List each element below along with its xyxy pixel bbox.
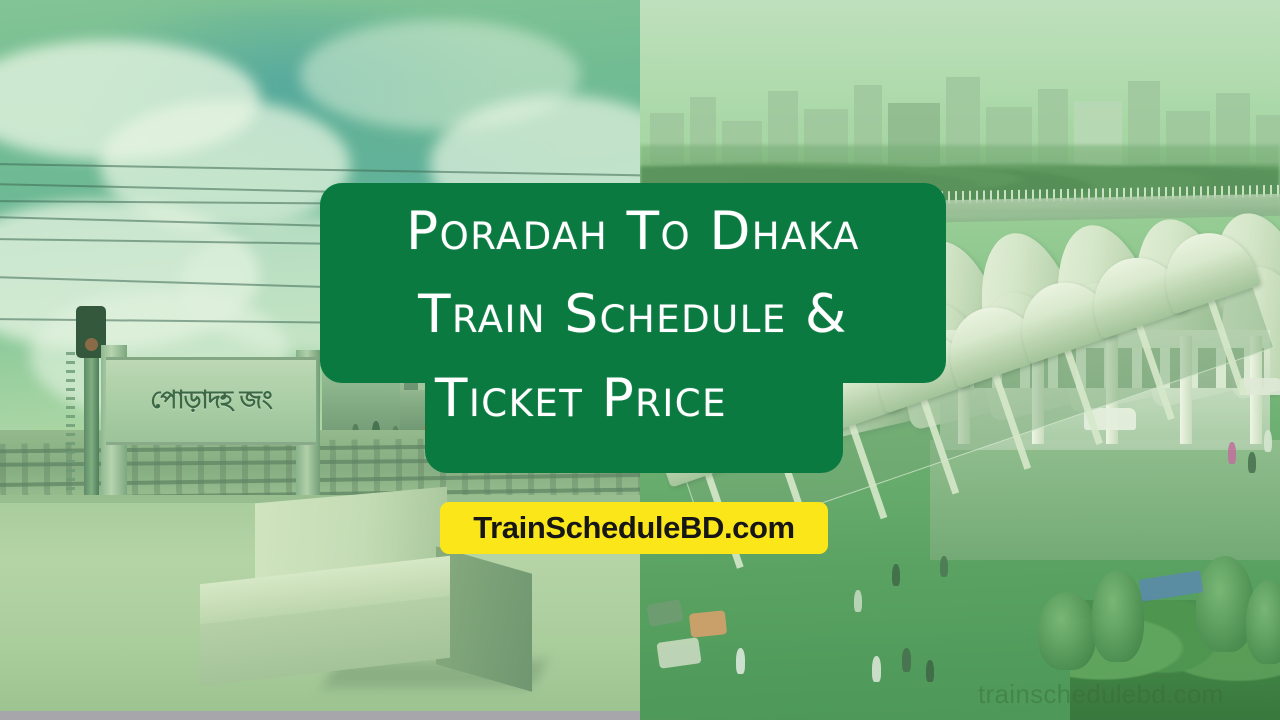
person-silhouette xyxy=(872,656,881,682)
banner-image: পোড়াদহ জং xyxy=(0,0,1280,720)
rickshaw xyxy=(646,599,683,627)
page-title: Poradah To Dhaka Train Schedule & Ticket… xyxy=(320,183,946,475)
site-domain-badge[interactable]: TrainScheduleBD.com xyxy=(440,502,828,554)
person-silhouette xyxy=(1248,452,1256,473)
signal-lamp-icon xyxy=(85,338,98,351)
person-silhouette xyxy=(854,590,862,612)
rickshaw xyxy=(656,637,701,669)
title-line-1: Poradah To Dhaka xyxy=(406,205,860,258)
signal-ladder xyxy=(66,352,75,512)
watermark-text: trainschedulebd.com xyxy=(978,679,1224,710)
person-silhouette xyxy=(892,564,900,586)
rickshaw xyxy=(689,610,727,638)
site-domain-label: TrainScheduleBD.com xyxy=(473,510,794,546)
person-silhouette xyxy=(926,660,934,682)
person-silhouette xyxy=(1264,430,1272,452)
person-silhouette xyxy=(736,648,745,674)
title-line-3: Ticket Price xyxy=(435,372,727,425)
shrub xyxy=(1092,570,1144,662)
shrub xyxy=(1196,556,1254,652)
station-name-text: পোড়াদহ জং xyxy=(150,380,272,423)
shrub xyxy=(1246,580,1280,664)
title-line-2: Train Schedule & xyxy=(418,288,848,341)
bottom-gray-strip xyxy=(0,711,640,720)
information-sign xyxy=(1139,570,1204,601)
station-name-board: পোড়াদহ জং xyxy=(106,357,316,445)
shrub xyxy=(1038,592,1096,670)
person-silhouette xyxy=(902,648,911,672)
person-silhouette xyxy=(1228,442,1236,464)
person-silhouette xyxy=(940,556,948,577)
